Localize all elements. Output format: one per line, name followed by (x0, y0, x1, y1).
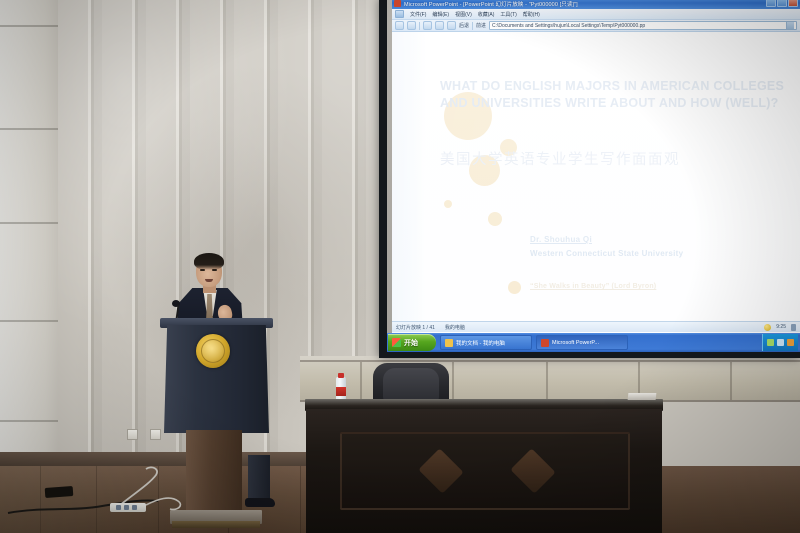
paper-on-table (628, 393, 657, 400)
document-icon (395, 10, 404, 18)
menu-bar[interactable]: 文件(F) 编辑(E) 视图(V) 收藏(A) 工具(T) 帮助(H) (392, 9, 800, 20)
wall-outlet (150, 429, 161, 440)
speaker-eye-right (212, 269, 217, 271)
windows-logo-icon (392, 338, 401, 347)
close-icon[interactable] (788, 0, 798, 7)
status-page-indicator: 幻灯片放映 1 / 41 (396, 324, 435, 331)
system-tray[interactable] (762, 334, 798, 351)
forward-icon[interactable] (407, 21, 416, 30)
cable-connector-block (45, 486, 74, 498)
address-toolbar[interactable]: 后退 前进 C:\Documents and Settings\hujun\Lo… (392, 20, 800, 32)
menu-item-favorites[interactable]: 收藏(A) (478, 11, 495, 18)
maximize-icon[interactable] (777, 0, 787, 7)
menu-item-file[interactable]: 文件(F) (410, 11, 426, 18)
slide-subtitle-chinese: 美国大学英语专业学生写作面面观 (440, 150, 790, 170)
menu-item-tools[interactable]: 工具(T) (500, 11, 516, 18)
power-socket (132, 505, 137, 510)
back-icon[interactable] (395, 21, 404, 30)
window-controls[interactable] (766, 0, 798, 7)
taskbar-item-label: Microsoft PowerP... (552, 340, 599, 346)
slide-author: Dr. Shouhua Qi (530, 235, 592, 244)
address-bar[interactable]: C:\Documents and Settings\hujun\Local Se… (489, 21, 797, 30)
chevron-down-icon[interactable] (786, 21, 794, 30)
window-titlebar: Microsoft PowerPoint - [PowerPoint 幻灯片放映… (392, 0, 800, 9)
slide-canvas[interactable]: What do English majors in American colle… (392, 32, 800, 339)
speaker-eye-left (200, 269, 205, 271)
minimize-icon[interactable] (766, 0, 776, 7)
window-title: Microsoft PowerPoint - [PowerPoint 幻灯片放映… (404, 0, 578, 8)
menu-item-help[interactable]: 帮助(H) (523, 11, 540, 18)
status-indicator-icon (764, 324, 771, 331)
toolbar-divider (419, 22, 420, 30)
start-button-label: 开始 (404, 338, 418, 348)
menu-item-view[interactable]: 视图(V) (455, 11, 472, 18)
projection-screen: Microsoft PowerPoint - [PowerPoint 幻灯片放映… (379, 0, 800, 358)
status-bar: 幻灯片放映 1 / 41 我的电脑 9:25 (392, 321, 800, 332)
power-socket (124, 505, 129, 510)
taskbar-item-label: 我的文档 - 我的电脑 (456, 339, 505, 347)
lock-icon (791, 324, 796, 331)
slide-affiliation: Western Connecticut State University (530, 249, 683, 258)
decorative-circle-bullet (508, 281, 521, 294)
home-icon[interactable] (447, 21, 456, 30)
status-zone: 我的电脑 (445, 324, 465, 331)
toolbar-forward-label[interactable]: 前进 (476, 22, 486, 29)
folder-icon (445, 339, 453, 347)
bottle-cap (338, 373, 344, 378)
bottle-label (336, 387, 346, 396)
powerpoint-window[interactable]: Microsoft PowerPoint - [PowerPoint 幻灯片放映… (392, 0, 800, 339)
table-front-panel (340, 432, 630, 510)
volume-icon[interactable] (767, 339, 774, 346)
taskbar-item-explorer[interactable]: 我的文档 - 我的电脑 (440, 335, 532, 350)
power-socket (116, 505, 121, 510)
toolbar-divider (472, 22, 473, 30)
windows-taskbar[interactable]: 开始 我的文档 - 我的电脑 Microsoft PowerP... (387, 333, 800, 352)
slide-left-band (392, 32, 426, 339)
status-right-group: 9:25 (764, 324, 796, 331)
stop-icon[interactable] (423, 21, 432, 30)
podium-emblem-seal (196, 334, 230, 368)
left-curved-wall (0, 0, 60, 470)
language-icon[interactable] (787, 339, 794, 346)
lecture-hall-photo: Microsoft PowerPoint - [PowerPoint 幻灯片放映… (0, 0, 800, 533)
slide-quote: “She Walks in Beauty” (Lord Byron) (530, 283, 656, 290)
refresh-icon[interactable] (435, 21, 444, 30)
slide-title: What do English majors in American colle… (440, 78, 790, 112)
chair-backrest-cushion (383, 368, 439, 402)
network-icon[interactable] (777, 339, 784, 346)
decorative-circle-xsmall (488, 212, 502, 226)
powerpoint-icon (394, 0, 401, 7)
wall-outlet (127, 429, 138, 440)
toolbar-back-label[interactable]: 后退 (459, 22, 469, 29)
speaker-hair (194, 253, 224, 270)
address-value: C:\Documents and Settings\hujun\Local Se… (492, 23, 645, 29)
menu-item-edit[interactable]: 编辑(E) (432, 11, 449, 18)
status-time: 9:25 (776, 324, 786, 330)
taskbar-item-powerpoint[interactable]: Microsoft PowerP... (536, 335, 628, 350)
start-button[interactable]: 开始 (388, 334, 436, 351)
decorative-circle-tiny (444, 200, 452, 208)
powerpoint-icon (541, 339, 549, 347)
